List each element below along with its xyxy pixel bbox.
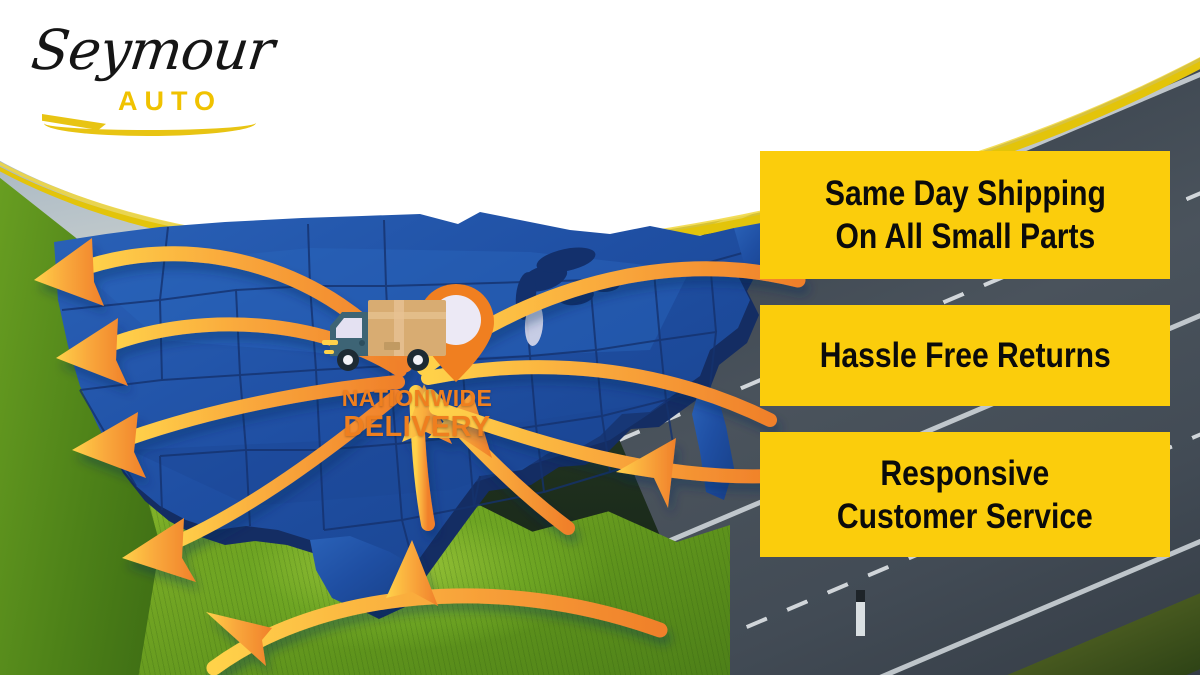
message-box-same-day-shipping[interactable]: Same Day Shipping On All Small Parts bbox=[760, 151, 1170, 279]
message-box-responsive-customer-service[interactable]: Responsive Customer Service bbox=[760, 432, 1170, 557]
logo-wordmark: Seymour bbox=[28, 18, 277, 82]
message-text: Hassle Free Returns bbox=[811, 334, 1119, 377]
nationwide-delivery-badge: NATIONWIDE DELIVERY bbox=[322, 282, 522, 452]
roadside-marker-post bbox=[856, 590, 865, 636]
message-text: Same Day Shipping On All Small Parts bbox=[816, 172, 1114, 258]
seymour-auto-logo[interactable]: Seymour AUTO bbox=[26, 18, 266, 122]
arrow-group-bottom bbox=[206, 540, 660, 668]
logo-subtitle: AUTO bbox=[118, 86, 222, 117]
nationwide-delivery-text: NATIONWIDE DELIVERY bbox=[322, 386, 512, 443]
delivery-truck-icon bbox=[322, 300, 446, 371]
message-box-hassle-free-returns[interactable]: Hassle Free Returns bbox=[760, 305, 1170, 406]
badge-line-2: DELIVERY bbox=[322, 412, 512, 443]
message-text: Responsive Customer Service bbox=[828, 452, 1101, 538]
truck-and-pin-svg bbox=[322, 282, 522, 386]
badge-line-1: NATIONWIDE bbox=[322, 386, 512, 411]
promo-banner: Seymour AUTO bbox=[0, 0, 1200, 675]
